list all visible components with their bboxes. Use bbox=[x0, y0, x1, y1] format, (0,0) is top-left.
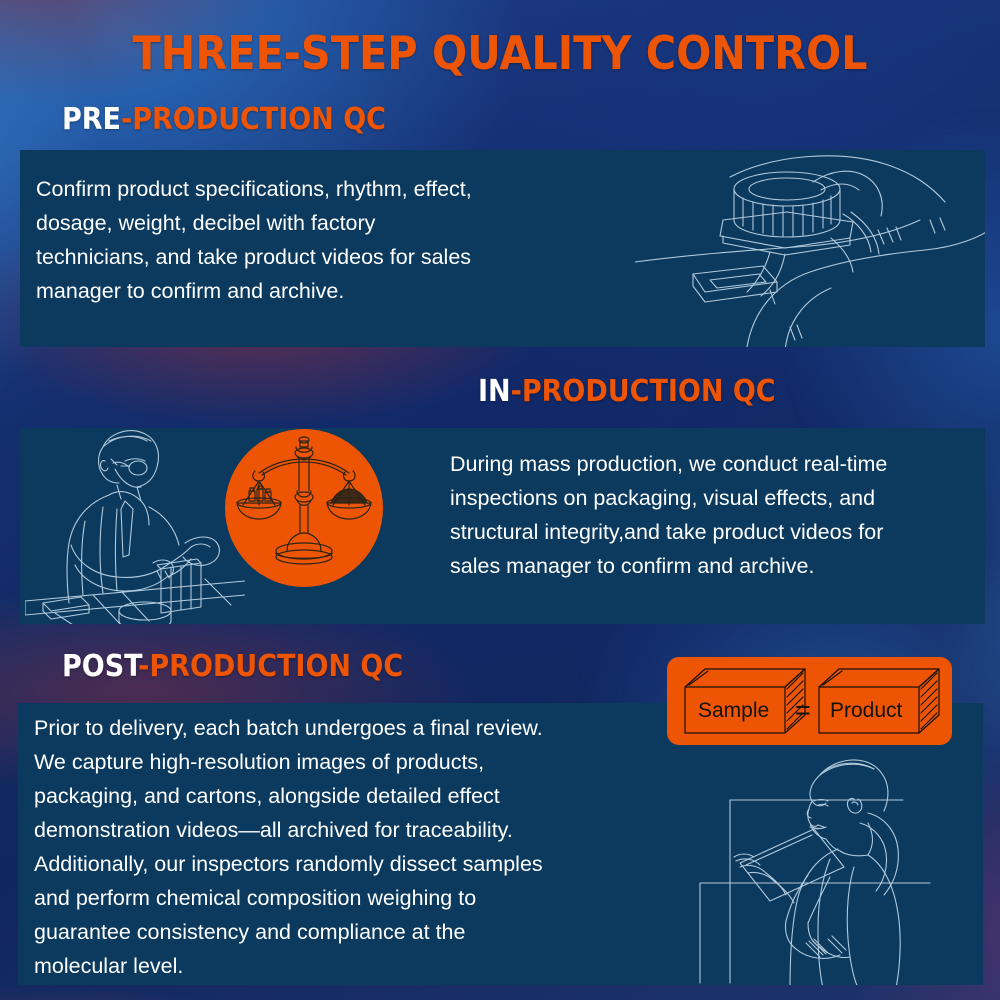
equals-sign: = bbox=[795, 697, 811, 724]
section-heading-in-production-white: IN bbox=[478, 374, 511, 409]
section-heading-pre-production: PRE-PRODUCTION QC bbox=[62, 105, 386, 135]
panel-in-production-text: During mass production, we conduct real-… bbox=[450, 447, 985, 583]
product-box-label: Product bbox=[830, 700, 902, 721]
section-heading-pre-production-white: PRE bbox=[62, 102, 121, 137]
balance-scale-badge bbox=[225, 429, 383, 587]
section-heading-post-production: POST-PRODUCTION QC bbox=[62, 652, 403, 682]
inspector-at-workbench-icon bbox=[25, 428, 245, 624]
page-title: THREE-STEP QUALITY CONTROL bbox=[0, 30, 1000, 76]
section-heading-post-production-orange: -PRODUCTION QC bbox=[138, 649, 403, 684]
section-heading-in-production-orange: -PRODUCTION QC bbox=[511, 374, 776, 409]
section-heading-pre-production-orange: -PRODUCTION QC bbox=[121, 102, 386, 137]
man-with-tablet-icon bbox=[678, 743, 983, 985]
panel-pre-production-text: Confirm product specifications, rhythm, … bbox=[36, 172, 596, 308]
sample-box-label: Sample bbox=[698, 700, 769, 721]
section-heading-in-production: IN-PRODUCTION QC bbox=[478, 377, 776, 407]
infographic-root: THREE-STEP QUALITY CONTROL PRE-PRODUCTIO… bbox=[0, 0, 1000, 1000]
panel-pre-production: Confirm product specifications, rhythm, … bbox=[20, 150, 985, 347]
panel-post-production: Prior to delivery, each batch undergoes … bbox=[18, 703, 983, 985]
hand-holding-component-icon bbox=[635, 150, 985, 347]
sample-equals-product-card: Sample = Product bbox=[667, 657, 952, 745]
panel-in-production: During mass production, we conduct real-… bbox=[20, 428, 985, 624]
panel-post-production-text: Prior to delivery, each batch undergoes … bbox=[34, 711, 694, 983]
section-heading-post-production-white: POST bbox=[62, 649, 138, 684]
